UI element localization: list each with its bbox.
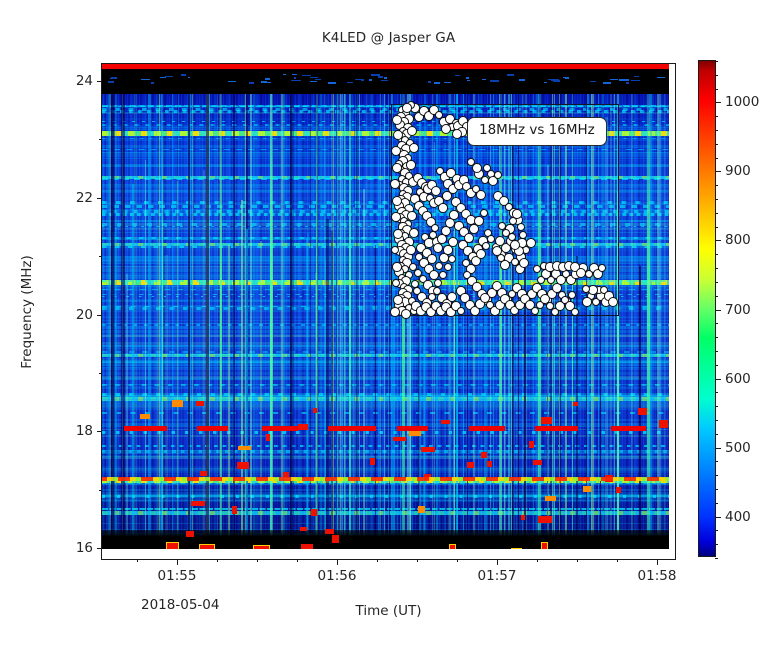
- x-tick-major: [177, 559, 178, 565]
- x-tick-minor: [617, 559, 618, 562]
- band-speck: [590, 81, 597, 83]
- interference-block: [533, 460, 542, 465]
- y-axis-label: Frequency (MHz): [18, 63, 36, 560]
- band-speck: [291, 80, 301, 82]
- colorbar-tick-minor: [715, 89, 718, 90]
- y-tick-minor: [99, 139, 102, 140]
- y-tick-minor: [99, 373, 102, 374]
- x-tick-minor: [137, 559, 138, 562]
- y-tick-label: 18: [76, 423, 93, 439]
- interference-block: [638, 408, 647, 415]
- top-saturation-band: [102, 69, 669, 94]
- colorbar-tick-minor: [715, 254, 718, 255]
- colorbar-tick-label: 700: [725, 302, 751, 318]
- interference-block: [573, 402, 579, 406]
- band-speck: [444, 82, 451, 84]
- colorbar-tick-minor: [715, 351, 718, 352]
- band-speck: [631, 80, 640, 82]
- carrier-dash-18mhz: [197, 426, 228, 431]
- colorbar-tick-label: 800: [725, 232, 751, 248]
- band-speck: [634, 76, 639, 78]
- interference-block: [301, 544, 313, 549]
- colorbar-tick-major: [715, 102, 721, 103]
- colorbar-tick-minor: [715, 227, 718, 228]
- x-tick-minor: [377, 559, 378, 562]
- colorbar-tick-minor: [715, 558, 718, 559]
- interference-block: [409, 431, 420, 436]
- colorbar-tick-minor: [715, 392, 718, 393]
- scatter-point: [409, 228, 419, 238]
- x-tick-minor: [537, 559, 538, 562]
- annotation-label: 18MHz vs 16MHz: [467, 117, 607, 146]
- colorbar-tick-label: 600: [725, 371, 751, 387]
- interference-block: [659, 420, 668, 427]
- band-speck: [482, 79, 486, 81]
- interference-block-low: [541, 542, 549, 549]
- band-speck: [455, 75, 460, 77]
- band-speck: [384, 77, 387, 79]
- colorbar-tick-minor: [715, 489, 718, 490]
- interference-block: [332, 535, 338, 542]
- interference-block-low: [511, 548, 521, 549]
- band-speck: [507, 74, 515, 76]
- scatter-point: [406, 160, 416, 170]
- interference-block: [140, 414, 150, 419]
- scatter-point: [474, 216, 484, 226]
- interference-block: [196, 401, 204, 406]
- colorbar-tick-minor: [715, 144, 718, 145]
- band-speck: [603, 82, 611, 84]
- band-speck: [249, 82, 253, 84]
- scatter-point: [406, 245, 416, 255]
- scatter-point: [512, 209, 521, 218]
- colorbar-tick-minor: [715, 282, 718, 283]
- interference-block: [232, 506, 237, 513]
- interference-block-low: [449, 544, 457, 549]
- interference-block: [583, 486, 592, 492]
- band-speck: [151, 82, 153, 84]
- colorbar-tick-minor: [715, 365, 718, 366]
- band-speck: [160, 77, 166, 79]
- y-tick-major: [97, 431, 103, 432]
- colorbar-tick-major: [715, 379, 721, 380]
- scatter-point: [492, 246, 502, 256]
- band-speck: [381, 80, 388, 82]
- mixed-saturation-line: [102, 477, 669, 481]
- band-speck: [265, 78, 270, 80]
- colorbar-tick-major: [715, 448, 721, 449]
- scatter-point: [392, 262, 401, 271]
- colorbar-tick-minor: [715, 158, 718, 159]
- band-speck: [361, 79, 364, 81]
- band-speck: [467, 80, 470, 82]
- interference-block: [545, 496, 555, 501]
- band-speck: [283, 74, 286, 76]
- colorbar-tick-minor: [715, 61, 718, 62]
- interference-block: [541, 417, 552, 424]
- colorbar-tick-minor: [715, 116, 718, 117]
- band-speck: [266, 82, 271, 84]
- band-speck: [328, 82, 336, 84]
- interference-block: [300, 527, 307, 531]
- interference-block-low: [199, 544, 215, 549]
- interference-block: [191, 501, 204, 506]
- colorbar-tick-label: 500: [725, 440, 751, 456]
- colorbar-tick-minor: [715, 213, 718, 214]
- band-speck: [294, 77, 296, 79]
- interference-block-low: [253, 545, 270, 549]
- y-tick-major: [97, 198, 103, 199]
- scatter-point: [392, 163, 402, 173]
- carrier-dash-18mhz: [124, 426, 167, 431]
- y-tick-label: 20: [76, 307, 93, 323]
- x-tick-label: 01:55: [158, 568, 197, 584]
- y-tick-minor: [99, 490, 102, 491]
- y-tick-label: 16: [76, 540, 93, 556]
- interference-block: [238, 446, 251, 450]
- y-tick-label: 24: [76, 73, 93, 89]
- colorbar-tick-minor: [715, 461, 718, 462]
- colorbar-tick-major: [715, 517, 721, 518]
- band-speck: [619, 79, 629, 81]
- carrier-dash-18mhz: [535, 426, 577, 431]
- colorbar-tick-minor: [715, 130, 718, 131]
- y-tick-minor: [99, 256, 102, 257]
- top-red-carrier: [102, 64, 669, 68]
- carrier-dash-18mhz: [469, 426, 506, 431]
- y-axis-label-text: Frequency (MHz): [19, 255, 35, 368]
- plot-axes: 18MHz vs 16MHz 2422201816 01:5501:5601:5…: [101, 63, 676, 560]
- interference-block: [421, 447, 435, 452]
- scatter-point: [438, 203, 447, 212]
- scatter-point: [407, 211, 417, 221]
- interference-block-low: [166, 542, 179, 549]
- band-speck: [428, 81, 431, 83]
- band-speck: [355, 79, 361, 81]
- band-speck: [310, 81, 317, 83]
- band-speck: [553, 80, 560, 82]
- x-tick-minor: [257, 559, 258, 562]
- colorbar-tick-minor: [715, 544, 718, 545]
- interference-block: [200, 471, 207, 477]
- colorbar-tick-minor: [715, 199, 718, 200]
- band-speck: [378, 76, 382, 78]
- colorbar-tick-label: 1000: [725, 94, 759, 110]
- band-speck: [434, 82, 440, 84]
- interference-block: [529, 441, 534, 448]
- colorbar-tick-minor: [715, 337, 718, 338]
- x-tick-minor: [457, 559, 458, 562]
- scatter-point: [495, 236, 505, 246]
- carrier-dash-18mhz: [328, 426, 376, 431]
- interference-block: [313, 408, 317, 413]
- scatter-point: [576, 268, 586, 278]
- colorbar-tick-minor: [715, 475, 718, 476]
- date-label: 2018-05-04: [141, 597, 219, 613]
- scatter-point: [390, 307, 400, 317]
- colorbar-tick-label: 900: [725, 163, 751, 179]
- band-speck: [626, 82, 629, 84]
- scatter-point: [448, 237, 457, 246]
- x-tick-label: 01:56: [318, 568, 357, 584]
- colorbar-tick-minor: [715, 323, 718, 324]
- interference-block: [325, 529, 334, 534]
- scatter-point: [407, 126, 417, 136]
- interference-block: [266, 434, 270, 441]
- interference-block: [481, 452, 486, 458]
- band-speck: [181, 74, 187, 76]
- band-speck: [188, 77, 190, 79]
- chart-title: K4LED @ Jasper GA: [101, 30, 676, 46]
- y-tick-major: [97, 548, 103, 549]
- x-tick-major: [657, 559, 658, 565]
- colorbar: 1000900800700600500400: [698, 60, 716, 557]
- colorbar-tick-minor: [715, 296, 718, 297]
- interference-block: [441, 420, 450, 424]
- interference-block: [186, 531, 194, 538]
- interference-block: [521, 515, 526, 520]
- interference-block: [538, 516, 552, 523]
- colorbar-tick-minor: [715, 268, 718, 269]
- interference-block: [393, 437, 406, 441]
- x-tick-label: 01:57: [478, 568, 517, 584]
- x-tick-minor: [417, 559, 418, 562]
- band-speck: [563, 77, 568, 79]
- interference-block: [616, 487, 621, 493]
- scatter-point: [510, 240, 520, 250]
- x-tick-major: [497, 559, 498, 565]
- band-speck: [347, 82, 353, 84]
- band-speck: [310, 77, 318, 79]
- interference-block: [418, 506, 425, 513]
- interference-block: [370, 458, 375, 465]
- y-tick-major: [97, 315, 103, 316]
- interference-block: [467, 462, 475, 468]
- scatter-point: [391, 212, 401, 222]
- colorbar-tick-label: 400: [725, 509, 751, 525]
- x-tick-minor: [577, 559, 578, 562]
- colorbar-tick-major: [715, 240, 721, 241]
- x-tick-major: [337, 559, 338, 565]
- carrier-dash-18mhz: [262, 426, 298, 431]
- band-speck: [610, 79, 618, 81]
- band-speck: [466, 77, 469, 79]
- scatter-point: [393, 229, 403, 239]
- scatter-point: [608, 297, 618, 307]
- band-speck: [369, 79, 372, 81]
- scatter-point: [582, 297, 591, 306]
- interference-block: [487, 461, 492, 467]
- scatter-point: [402, 103, 412, 113]
- colorbar-tick-major: [715, 310, 721, 311]
- colorbar-tick-minor: [715, 185, 718, 186]
- x-tick-minor: [217, 559, 218, 562]
- band-speck: [544, 82, 547, 84]
- band-speck: [141, 79, 150, 81]
- interference-block: [311, 509, 316, 516]
- colorbar-tick-minor: [715, 530, 718, 531]
- figure: K4LED @ Jasper GA Frequency (MHz) 18MHz …: [0, 0, 783, 656]
- interference-block: [172, 400, 183, 407]
- band-speck: [490, 80, 499, 82]
- colorbar-tick-minor: [715, 434, 718, 435]
- scatter-point: [393, 295, 403, 305]
- band-speck: [519, 79, 525, 81]
- colorbar-tick-minor: [715, 406, 718, 407]
- x-tick-label: 01:58: [638, 568, 677, 584]
- y-tick-label: 22: [76, 190, 93, 206]
- colorbar-tick-minor: [715, 503, 718, 504]
- band-speck: [292, 74, 297, 76]
- band-speck: [111, 77, 117, 79]
- band-speck: [108, 81, 114, 83]
- band-speck: [228, 81, 236, 83]
- colorbar-tick-minor: [715, 75, 718, 76]
- carrier-dash-18mhz: [611, 426, 647, 431]
- colorbar-tick-minor: [715, 420, 718, 421]
- band-speck: [657, 77, 665, 79]
- interference-block: [237, 462, 249, 469]
- colorbar-tick-major: [715, 171, 721, 172]
- y-tick-major: [97, 81, 103, 82]
- interference-block: [298, 424, 307, 430]
- x-tick-minor: [297, 559, 298, 562]
